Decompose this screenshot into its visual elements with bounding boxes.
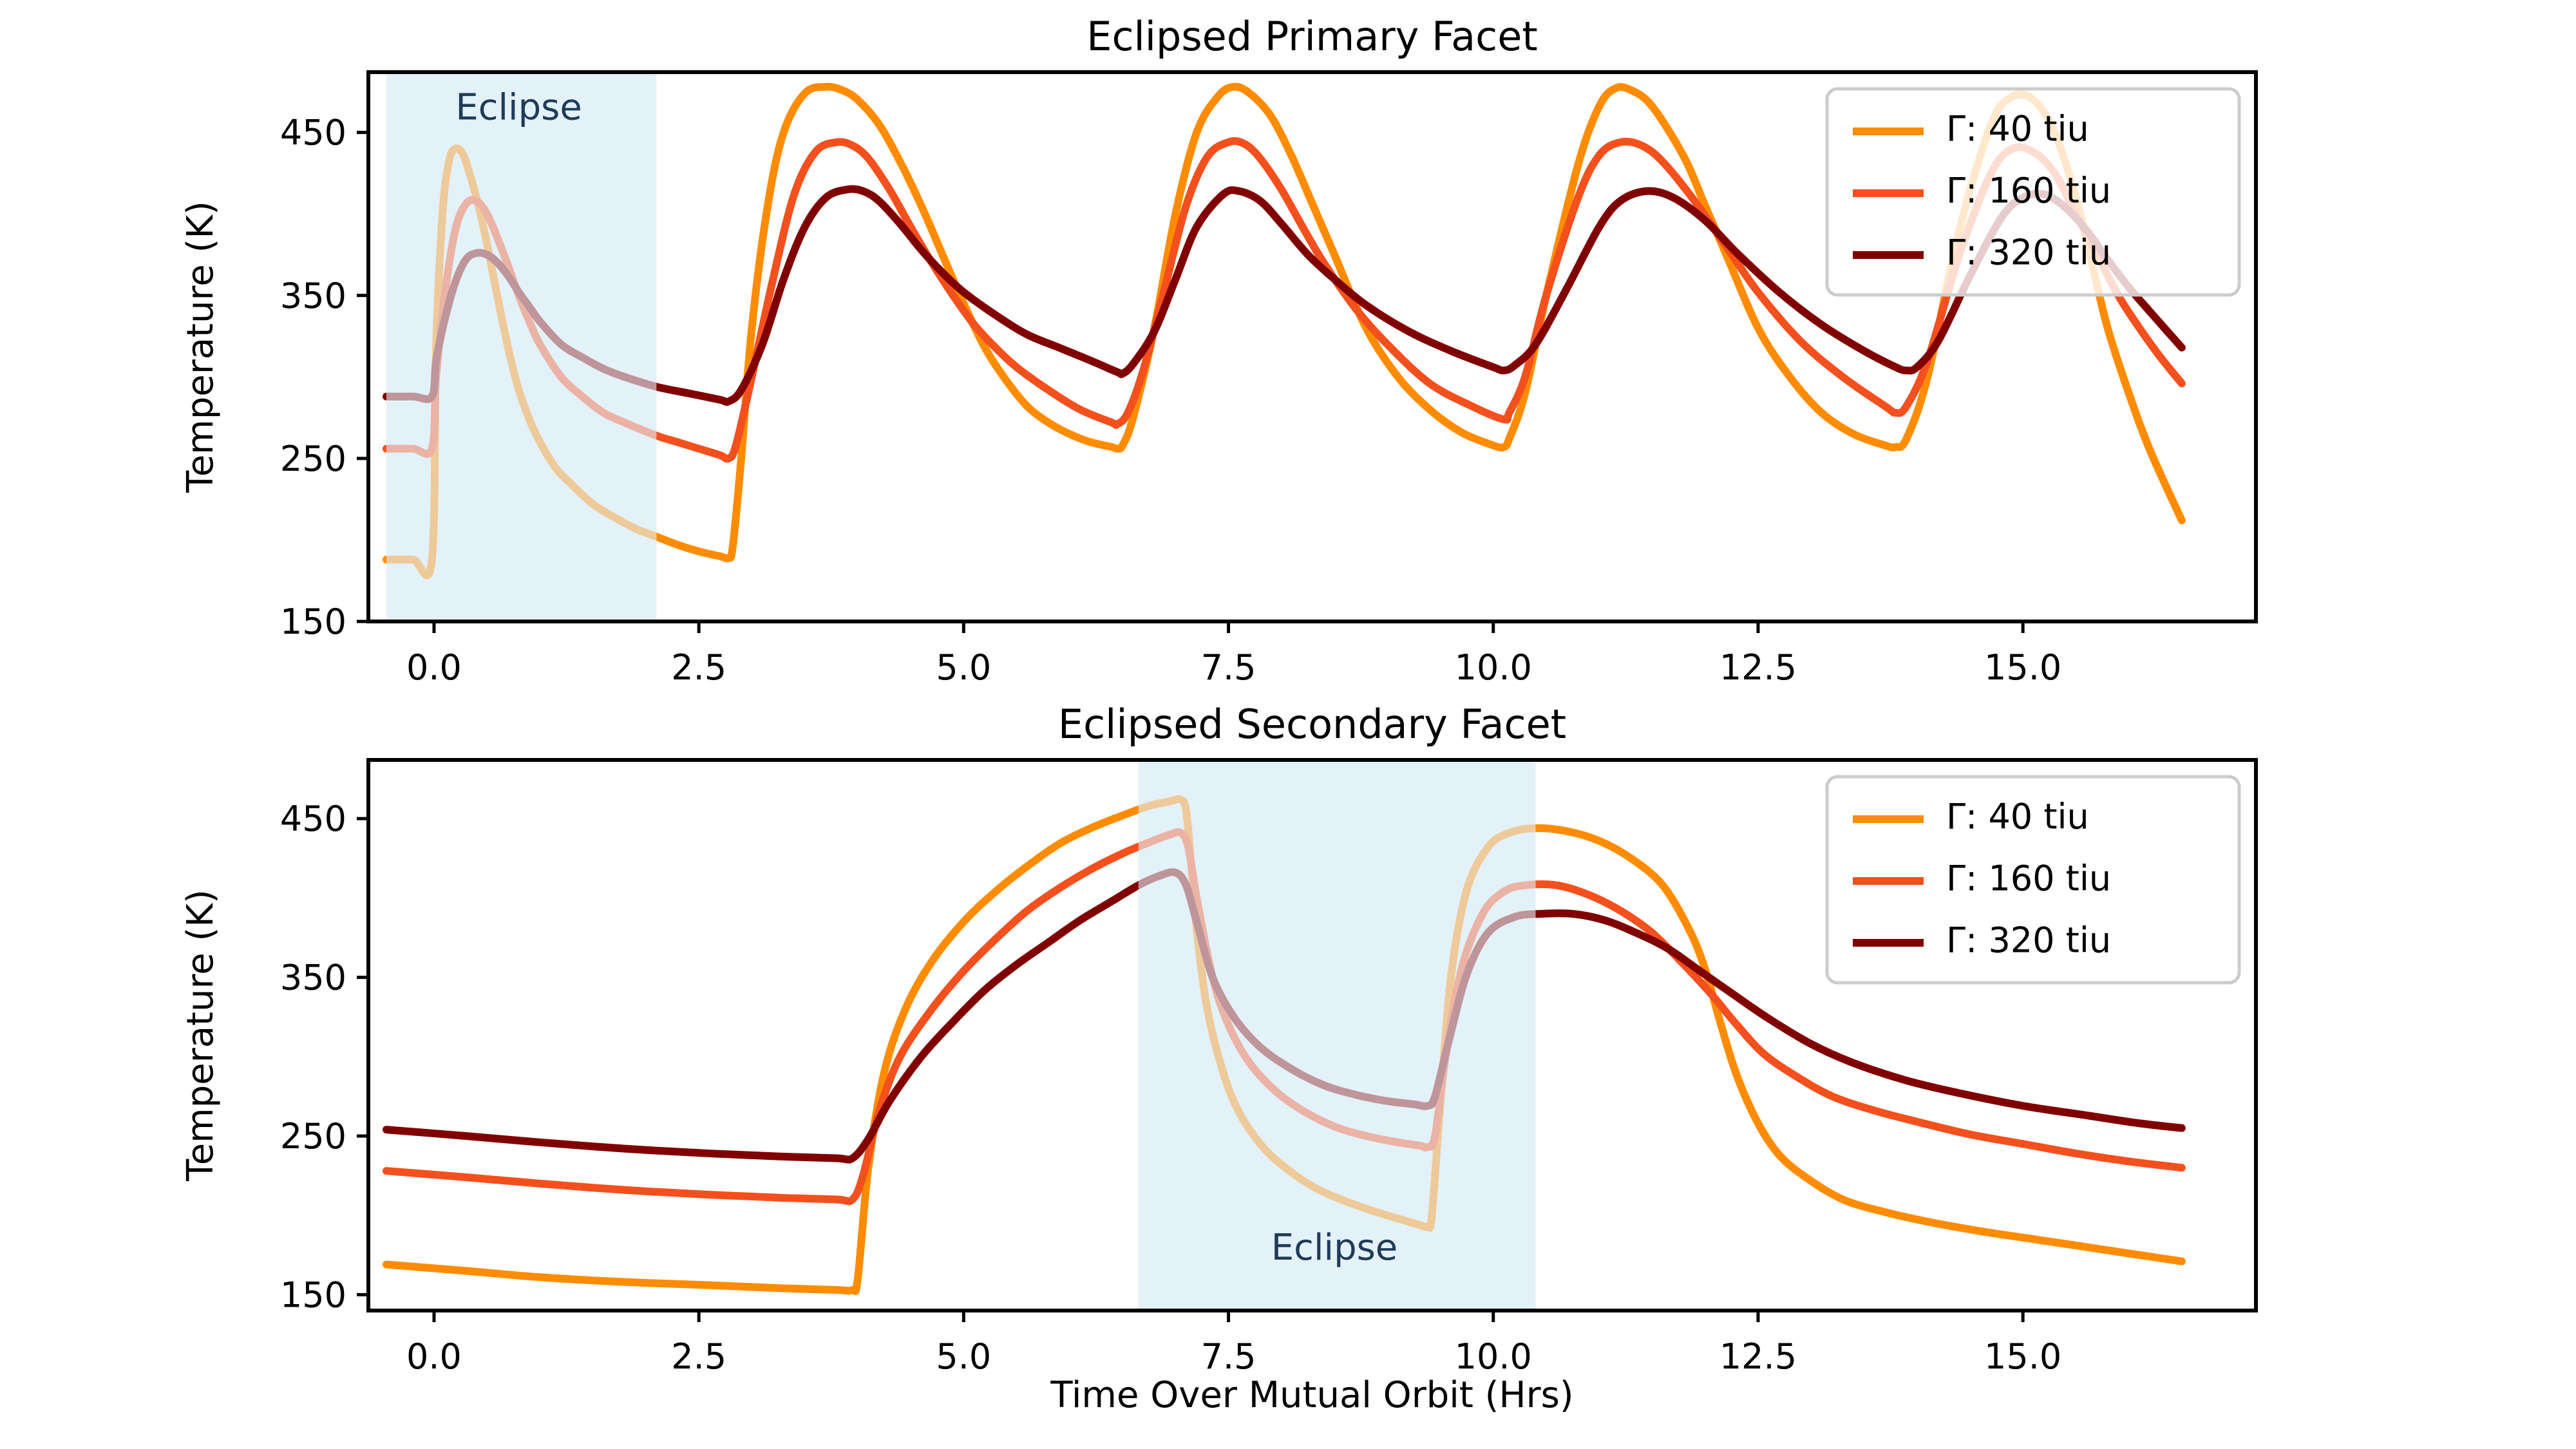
legend[interactable]: Γ: 40 tiuΓ: 160 tiuΓ: 320 tiu	[1827, 89, 2239, 295]
y-tick-label: 250	[280, 1116, 346, 1157]
y-tick-label: 450	[280, 113, 346, 153]
x-tick-label: 7.5	[1201, 647, 1256, 683]
y-tick-label: 350	[280, 276, 346, 316]
x-tick-label: 5.0	[936, 647, 991, 683]
eclipse-label: Eclipse	[1271, 1227, 1397, 1269]
y-axis: 150250350450	[280, 799, 368, 1315]
x-tick-label: 15.0	[1984, 1336, 2061, 1377]
chart-panel-primary: Eclipsed Primary FacetEclipse0.02.55.07.…	[0, 0, 2576, 683]
x-tick-label: 0.0	[406, 647, 462, 683]
y-tick-label: 450	[280, 799, 346, 839]
x-tick-label: 2.5	[671, 647, 726, 683]
x-tick-label: 7.5	[1201, 1336, 1256, 1377]
legend-label: Γ: 160 tiu	[1946, 858, 2111, 899]
eclipse-label: Eclipse	[455, 86, 582, 128]
x-tick-label: 12.5	[1719, 1336, 1797, 1377]
chart-title: Eclipsed Primary Facet	[1086, 13, 1537, 60]
x-tick-label: 12.5	[1719, 647, 1797, 683]
legend-label: Γ: 320 tiu	[1946, 232, 2111, 273]
legend-label: Γ: 40 tiu	[1946, 109, 2089, 149]
x-tick-label: 10.0	[1455, 1336, 1532, 1377]
y-axis-label: Temperature (K)	[180, 201, 222, 493]
figure-canvas: Eclipsed Primary FacetEclipse0.02.55.07.…	[0, 0, 2576, 1449]
y-tick-label: 150	[280, 601, 346, 642]
legend[interactable]: Γ: 40 tiuΓ: 160 tiuΓ: 320 tiu	[1827, 777, 2239, 983]
x-axis: 0.02.55.07.510.012.515.0	[406, 1311, 2061, 1377]
y-axis: 150250350450	[280, 113, 368, 642]
x-tick-label: 2.5	[671, 1336, 726, 1377]
y-axis-label: Temperature (K)	[180, 889, 222, 1182]
legend-label: Γ: 160 tiu	[1946, 171, 2111, 211]
x-tick-label: 5.0	[936, 1336, 991, 1377]
legend-label: Γ: 320 tiu	[1946, 920, 2111, 961]
eclipse-overlay-group	[386, 72, 656, 621]
chart-title: Eclipsed Secondary Facet	[1058, 701, 1566, 748]
legend-label: Γ: 40 tiu	[1946, 797, 2089, 837]
y-tick-label: 150	[280, 1274, 346, 1315]
x-tick-label: 15.0	[1984, 647, 2061, 683]
x-tick-label: 10.0	[1455, 647, 1532, 683]
chart-panel-secondary: Eclipsed Secondary FacetEclipse0.02.55.0…	[0, 683, 2576, 1449]
chart-svg: Eclipsed Primary FacetEclipse0.02.55.07.…	[0, 0, 2576, 683]
y-tick-label: 250	[280, 439, 346, 479]
eclipse-shaded-overlay	[386, 72, 656, 621]
x-axis-label: Time Over Mutual Orbit (Hrs)	[1050, 1374, 1573, 1416]
x-axis: 0.02.55.07.510.012.515.0	[406, 621, 2061, 683]
y-tick-label: 350	[280, 958, 346, 998]
chart-svg: Eclipsed Secondary FacetEclipse0.02.55.0…	[0, 683, 2576, 1449]
x-tick-label: 0.0	[406, 1336, 462, 1377]
